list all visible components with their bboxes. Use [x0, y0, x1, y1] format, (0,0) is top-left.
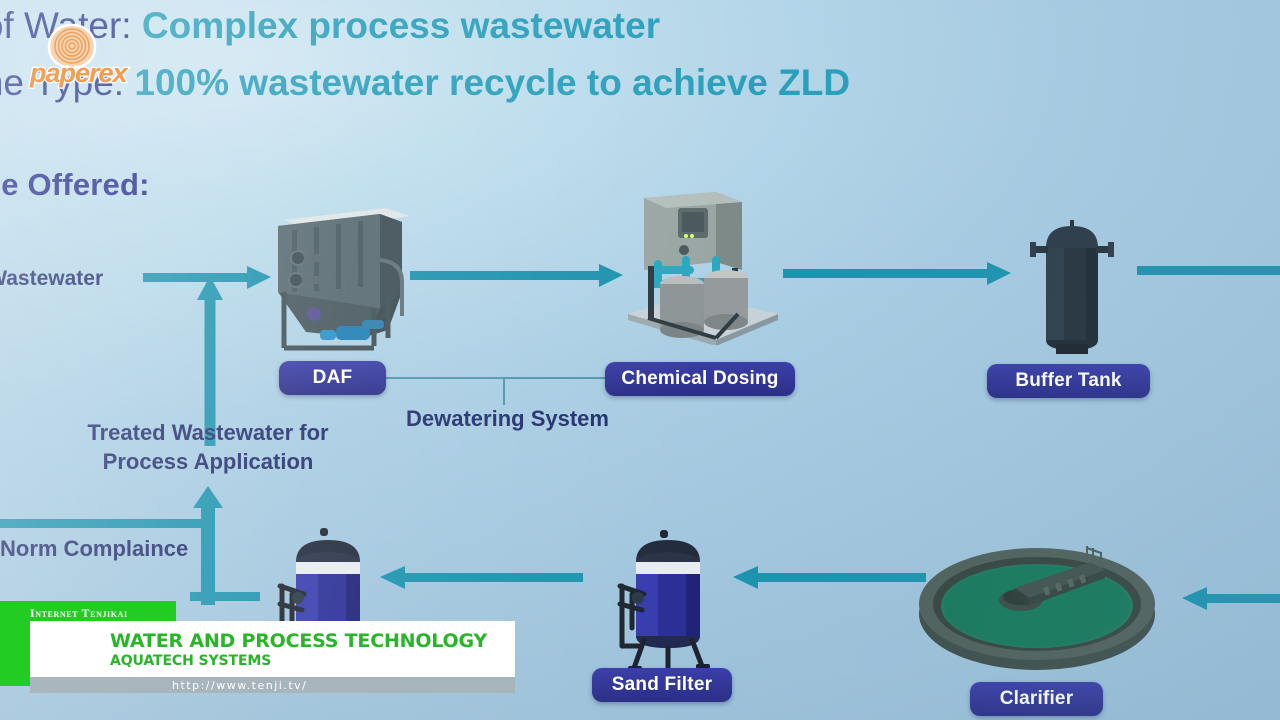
node-label-sand-filter[interactable]: Sand Filter — [592, 668, 732, 702]
dosing-skid-icon — [620, 190, 785, 345]
paperex-watermark: paperex paperex — [24, 22, 174, 92]
tenji-subtitle: AQUATECH SYSTEMS — [110, 653, 271, 669]
line-norm-elbow — [190, 592, 260, 601]
node-label-clarifier[interactable]: Clarifier — [970, 682, 1103, 716]
tenji-title: WATER AND PROCESS TECHNOLOGY — [110, 630, 487, 652]
slide-canvas: e of Water: Complex process wastewater e… — [0, 0, 1280, 720]
pressure-vessel-icon — [612, 528, 724, 673]
label-treated-wastewater: Treated Wastewater for Process Applicati… — [58, 418, 358, 476]
arrow-offscreen-to-clarifier — [1180, 583, 1280, 615]
paperex-wordmark: paperex — [30, 58, 127, 89]
line-daf-to-chemical-dosing-dewatering — [386, 377, 606, 379]
label-norm-compliance: B Norm Complaince — [0, 536, 188, 562]
tenji-url[interactable]: http://www.tenji.tv/ — [172, 679, 307, 692]
arrow-daf-to-chemical-dosing — [410, 260, 625, 292]
label-dewatering-system: Dewatering System — [406, 406, 609, 432]
node-label-buffer-tank[interactable]: Buffer Tank — [987, 364, 1150, 398]
arrow-sand-filter-to-carbon-filter — [378, 562, 583, 594]
daf-unit-icon — [262, 196, 417, 356]
tenji-green-sidebar — [0, 601, 30, 686]
type-of-water-value: Complex process wastewater — [142, 5, 660, 46]
arrow-treated-water-up — [190, 480, 226, 605]
arrow-clarifier-to-sand-filter — [731, 562, 926, 594]
node-label-chemical-dosing[interactable]: Chemical Dosing — [605, 362, 795, 396]
arrow-chemical-dosing-to-buffer-tank — [783, 258, 1013, 290]
tenji-channel-name: Internet Tenjikai — [30, 606, 128, 621]
broadcast-watermark: Internet Tenjikai WATER AND PROCESS TECH… — [0, 601, 515, 691]
scheme-type-value: 100% wastewater recycle to achieve ZLD — [134, 62, 850, 103]
circular-clarifier-icon — [915, 528, 1160, 678]
label-process-wastewater: ss Wastewater — [0, 267, 103, 291]
vertical-tank-icon — [1030, 218, 1114, 358]
line-dewatering-tee — [503, 377, 505, 405]
line-norm-compliance — [0, 519, 202, 528]
node-label-daf[interactable]: DAF — [279, 361, 386, 395]
line-buffer-tank-to-offscreen — [1137, 266, 1280, 275]
scheme-offered-heading: eme Offered: — [0, 167, 150, 203]
